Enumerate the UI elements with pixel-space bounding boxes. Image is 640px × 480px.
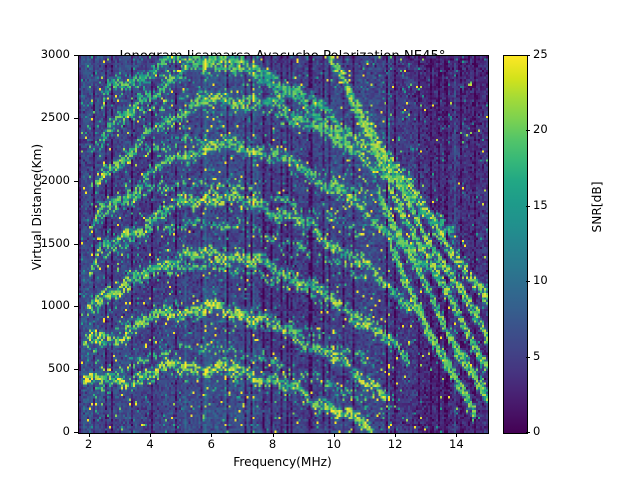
x-tick-label: 14 <box>436 437 476 451</box>
x-tick-label: 2 <box>69 437 109 451</box>
x-tick-label: 12 <box>375 437 415 451</box>
colorbar-tick-mark <box>526 281 530 282</box>
y-tick-label: 500 <box>8 361 70 375</box>
colorbar-tick-mark <box>526 432 530 433</box>
x-tick-mark <box>150 433 151 437</box>
x-tick-mark <box>334 433 335 437</box>
colorbar-tick-mark <box>526 55 530 56</box>
colorbar-tick-label: 20 <box>533 122 548 136</box>
colorbar-tick-mark <box>526 357 530 358</box>
ionogram-plot-area[interactable] <box>78 55 489 434</box>
colorbar-tick-label: 25 <box>533 47 548 61</box>
x-tick-label: 4 <box>130 437 170 451</box>
x-tick-mark <box>89 433 90 437</box>
colorbar-tick-mark <box>526 130 530 131</box>
colorbar-tick-label: 5 <box>533 349 540 363</box>
colorbar-label: SNR[dB] <box>590 107 604 307</box>
x-tick-label: 10 <box>314 437 354 451</box>
y-axis-label: Virtual Distance(Km) <box>30 77 44 337</box>
colorbar[interactable] <box>503 55 528 434</box>
x-tick-label: 6 <box>191 437 231 451</box>
x-tick-mark <box>211 433 212 437</box>
ionogram-figure: Ionogram Jicamarca-Ayacucho Polarization… <box>0 0 640 480</box>
x-tick-mark <box>456 433 457 437</box>
y-tick-label: 0 <box>8 424 70 438</box>
colorbar-tick-label: 15 <box>533 198 548 212</box>
x-tick-label: 8 <box>253 437 293 451</box>
y-tick-label: 3000 <box>8 47 70 61</box>
x-axis-label: Frequency(MHz) <box>78 455 487 469</box>
colorbar-gradient <box>504 56 527 433</box>
colorbar-tick-label: 0 <box>533 424 540 438</box>
ionogram-heatmap-canvas[interactable] <box>79 56 488 433</box>
colorbar-tick-label: 10 <box>533 273 548 287</box>
colorbar-tick-mark <box>526 206 530 207</box>
x-tick-mark <box>273 433 274 437</box>
x-tick-mark <box>395 433 396 437</box>
